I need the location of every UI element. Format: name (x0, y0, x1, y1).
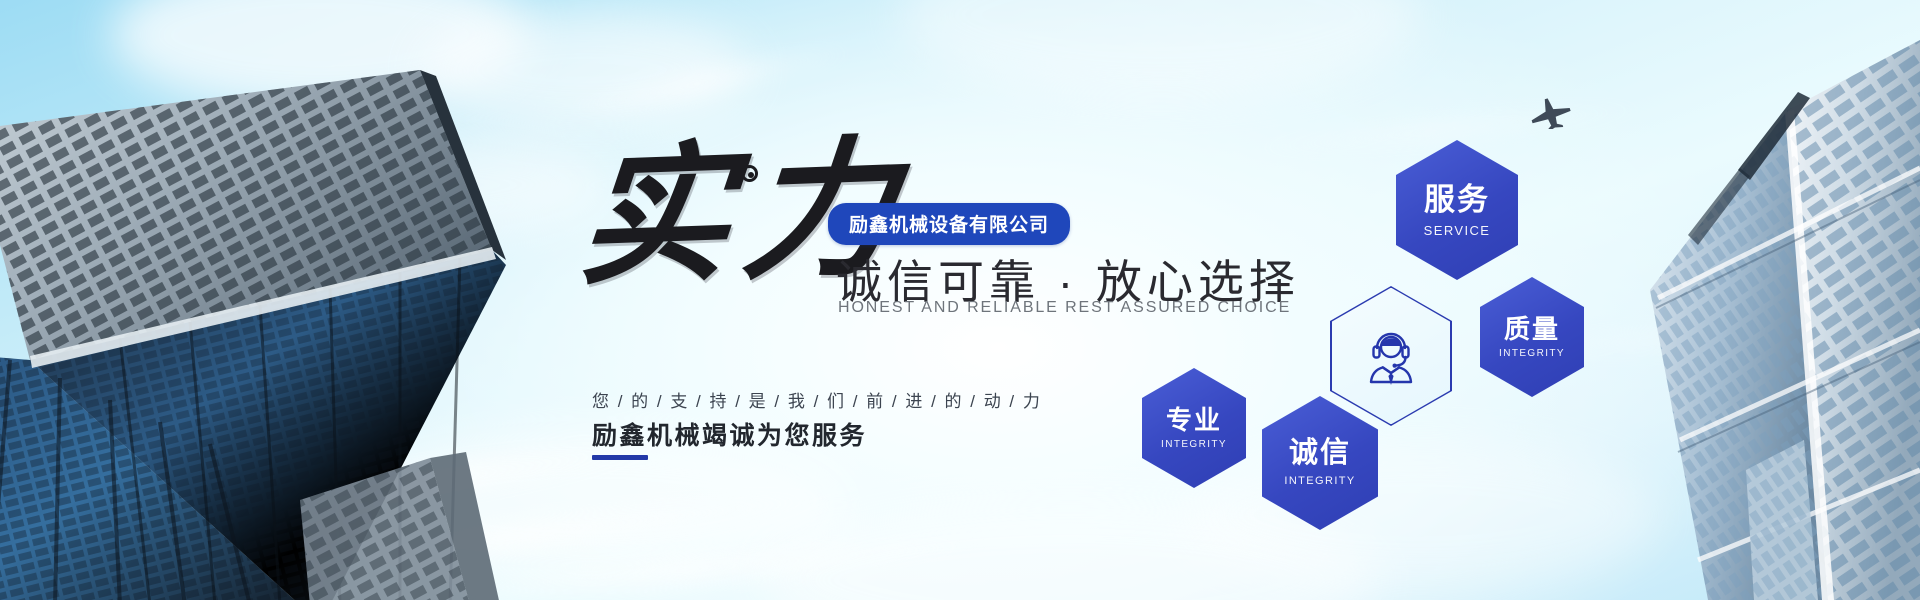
hexagon-agent-outline[interactable] (1330, 286, 1452, 426)
slogan-en: HONEST AND RELIABLE REST ASSURED CHOICE (838, 299, 1291, 317)
company-badge: 励鑫机械设备有限公司 (828, 203, 1070, 245)
hexagon-integrity-cn: 诚信 (1289, 439, 1351, 468)
hexagon-professional-cn: 专业 (1166, 407, 1222, 433)
hero-banner: 实力 励鑫机械设备有限公司 诚信可靠 · 放心选择 HONEST AND REL… (0, 0, 1920, 600)
hexagon-integrity-en: INTEGRITY (1284, 476, 1355, 487)
hexagon-quality-cn: 质量 (1504, 316, 1560, 342)
accent-rule (592, 455, 648, 460)
hexagon-quality-en: INTEGRITY (1499, 349, 1565, 359)
hexagon-service-en: SERVICE (1424, 224, 1491, 237)
hexagon-professional-en: INTEGRITY (1161, 440, 1227, 450)
copy-block: 实力 励鑫机械设备有限公司 诚信可靠 · 放心选择 HONEST AND REL… (0, 0, 1920, 600)
hexagon-service-cn: 服务 (1424, 184, 1490, 215)
customer-service-agent-icon (1361, 323, 1421, 390)
subtitle-line-2: 励鑫机械竭诚为您服务 (592, 416, 867, 452)
subtitle-line-1: 您 / 的 / 支 / 持 / 是 / 我 / 们 / 前 / 进 / 的 / … (592, 387, 1042, 412)
circle-dot-icon (741, 165, 758, 182)
